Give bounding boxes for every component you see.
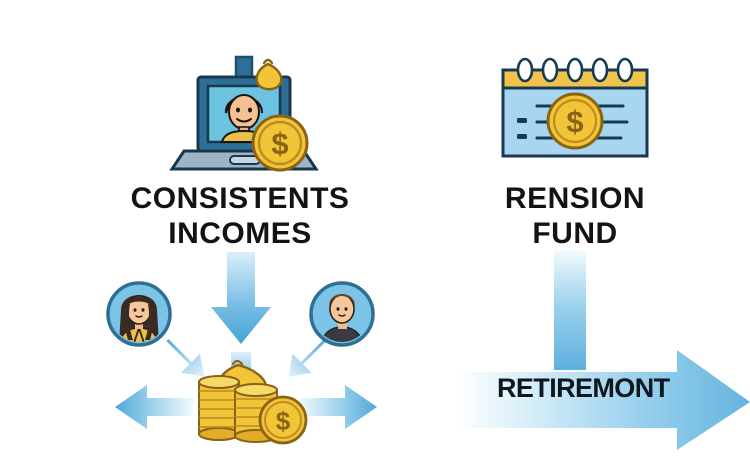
svg-text:$: $ <box>276 406 291 436</box>
left-arrow-icon <box>115 385 193 429</box>
laptop-person-coin-icon: $ <box>160 55 320 180</box>
infographic-canvas: $ CONSISTENTS INCOMES <box>0 0 750 465</box>
pension-fund-heading: RENSION FUND <box>455 182 695 252</box>
up-arrow-to-right-avatar-icon <box>288 339 326 377</box>
svg-text:$: $ <box>271 126 288 161</box>
income-flow-diagram: $ <box>95 252 395 457</box>
down-arrow-large-icon <box>211 252 271 344</box>
dollar-coin-icon: $ <box>253 116 307 170</box>
svg-text:$: $ <box>566 104 583 139</box>
calendar-coin-icon: $ <box>495 58 655 168</box>
money-pouch-icon <box>257 60 282 89</box>
retirement-arrow-label: RETIREMONT <box>497 373 697 404</box>
avatar-woman-icon <box>108 283 170 346</box>
right-arrow-icon <box>299 385 377 429</box>
up-arrow-to-left-avatar-icon <box>166 339 204 377</box>
consistent-incomes-heading: CONSISTENTS INCOMES <box>95 182 385 252</box>
avatar-man-icon <box>311 283 373 346</box>
